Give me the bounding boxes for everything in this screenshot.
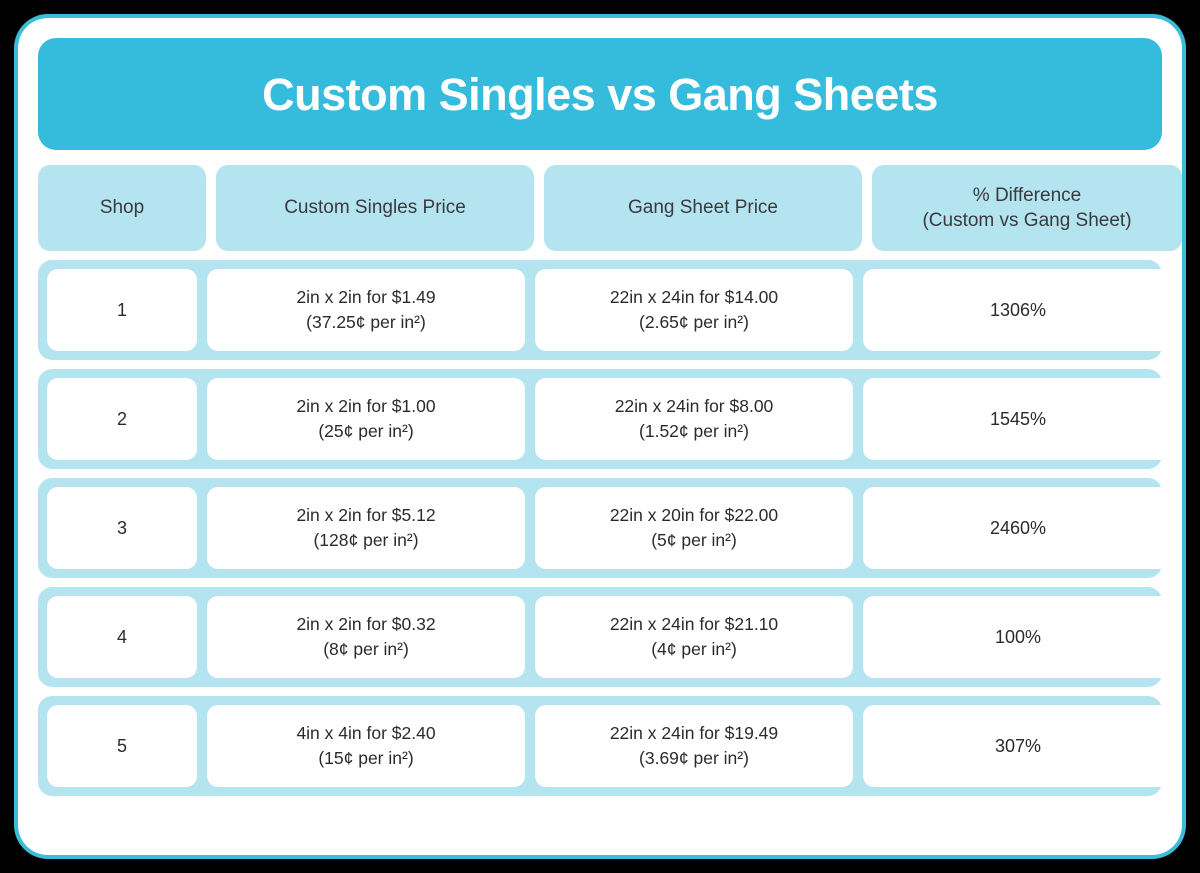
cell-shop-value: 3 [117,518,127,539]
cell-percent-difference-value: 2460% [990,518,1046,539]
cell-custom-price-line1: 2in x 2in for $1.00 [296,394,435,419]
cell-custom-price-line1: 4in x 4in for $2.40 [296,721,435,746]
cell-shop-value: 5 [117,736,127,757]
comparison-table: Shop Custom Singles Price Gang Sheet Pri… [38,158,1162,796]
cell-shop-value: 1 [117,300,127,321]
cell-percent-difference-value: 1306% [990,300,1046,321]
cell-custom-singles-price: 2in x 2in for $5.12 (128¢ per in²) [207,487,525,569]
cell-percent-difference-value: 307% [995,736,1041,757]
cell-percent-difference: 100% [863,596,1173,678]
cell-gang-sheet-price: 22in x 24in for $19.49 (3.69¢ per in²) [535,705,853,787]
outer-frame-ring: Custom Singles vs Gang Sheets Shop Custo… [14,14,1186,859]
column-header-percent-difference-label: % Difference (Custom vs Gang Sheet) [922,183,1131,233]
cell-custom-price-line2: (37.25¢ per in²) [306,310,426,335]
cell-percent-difference: 1545% [863,378,1173,460]
column-header-gang-sheet-price-label: Gang Sheet Price [628,195,778,220]
card-panel: Custom Singles vs Gang Sheets Shop Custo… [18,18,1182,855]
cell-custom-price-line1: 2in x 2in for $0.32 [296,612,435,637]
cell-percent-difference: 1306% [863,269,1173,351]
cell-gang-sheet-price: 22in x 24in for $21.10 (4¢ per in²) [535,596,853,678]
cell-custom-price-line2: (8¢ per in²) [323,637,409,662]
cell-custom-price-line1: 2in x 2in for $1.49 [296,285,435,310]
cell-shop: 4 [47,596,197,678]
cell-gang-price-line1: 22in x 20in for $22.00 [610,503,778,528]
cell-custom-price-line2: (15¢ per in²) [318,746,413,771]
cell-gang-price-line2: (1.52¢ per in²) [639,419,749,444]
column-header-custom-singles-price: Custom Singles Price [216,165,534,251]
cell-percent-difference-value: 1545% [990,409,1046,430]
cell-percent-difference: 2460% [863,487,1173,569]
cell-gang-price-line2: (3.69¢ per in²) [639,746,749,771]
cell-gang-sheet-price: 22in x 24in for $8.00 (1.52¢ per in²) [535,378,853,460]
cell-gang-price-line2: (5¢ per in²) [651,528,737,553]
cell-shop: 5 [47,705,197,787]
column-header-gang-sheet-price: Gang Sheet Price [544,165,862,251]
cell-percent-difference: 307% [863,705,1173,787]
cell-custom-singles-price: 2in x 2in for $1.49 (37.25¢ per in²) [207,269,525,351]
cell-shop: 1 [47,269,197,351]
cell-shop-value: 2 [117,409,127,430]
table-header-row: Shop Custom Singles Price Gang Sheet Pri… [38,165,1162,251]
column-header-shop: Shop [38,165,206,251]
cell-custom-singles-price: 2in x 2in for $1.00 (25¢ per in²) [207,378,525,460]
table-row: 1 2in x 2in for $1.49 (37.25¢ per in²) 2… [38,260,1162,360]
table-row: 3 2in x 2in for $5.12 (128¢ per in²) 22i… [38,478,1162,578]
table-row: 2 2in x 2in for $1.00 (25¢ per in²) 22in… [38,369,1162,469]
column-header-custom-singles-price-label: Custom Singles Price [284,195,466,220]
cell-gang-price-line1: 22in x 24in for $8.00 [615,394,774,419]
cell-custom-singles-price: 2in x 2in for $0.32 (8¢ per in²) [207,596,525,678]
table-row: 5 4in x 4in for $2.40 (15¢ per in²) 22in… [38,696,1162,796]
cell-gang-price-line1: 22in x 24in for $14.00 [610,285,778,310]
cell-gang-price-line1: 22in x 24in for $19.49 [610,721,778,746]
screenshot-root: Custom Singles vs Gang Sheets Shop Custo… [0,0,1200,873]
cell-gang-price-line1: 22in x 24in for $21.10 [610,612,778,637]
page-title: Custom Singles vs Gang Sheets [262,72,938,117]
cell-percent-difference-value: 100% [995,627,1041,648]
cell-gang-sheet-price: 22in x 20in for $22.00 (5¢ per in²) [535,487,853,569]
cell-custom-price-line2: (25¢ per in²) [318,419,413,444]
table-row: 4 2in x 2in for $0.32 (8¢ per in²) 22in … [38,587,1162,687]
cell-gang-price-line2: (2.65¢ per in²) [639,310,749,335]
cell-gang-price-line2: (4¢ per in²) [651,637,737,662]
cell-custom-singles-price: 4in x 4in for $2.40 (15¢ per in²) [207,705,525,787]
cell-custom-price-line1: 2in x 2in for $5.12 [296,503,435,528]
cell-shop: 3 [47,487,197,569]
cell-shop-value: 4 [117,627,127,648]
title-bar: Custom Singles vs Gang Sheets [38,38,1162,150]
column-header-percent-difference: % Difference (Custom vs Gang Sheet) [872,165,1182,251]
column-header-shop-label: Shop [100,195,144,220]
cell-custom-price-line2: (128¢ per in²) [313,528,418,553]
cell-shop: 2 [47,378,197,460]
cell-gang-sheet-price: 22in x 24in for $14.00 (2.65¢ per in²) [535,269,853,351]
